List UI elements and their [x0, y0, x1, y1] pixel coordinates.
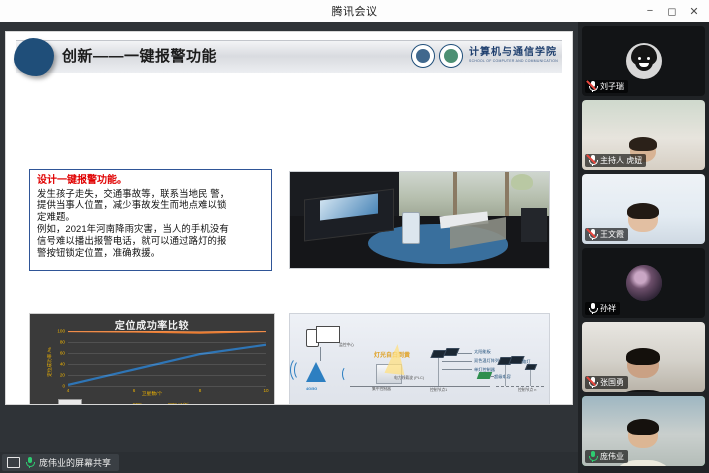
signal-wave-icon-outer	[290, 357, 308, 383]
chart-x-axis-label: 卫星数/个	[30, 390, 274, 397]
participant-name: 孙祥	[600, 303, 616, 314]
textbox-line-4: 例如，2021年河南降雨灾害，当人的手机没有	[37, 223, 265, 235]
chart-legend-item: GPS+WiFi	[151, 402, 189, 404]
positioning-success-chart: 定位成功率比较 定位成功率 /% 02040608010046810 卫星数/个…	[29, 313, 275, 404]
screen-share-label: 庞伟业的屏幕共享	[39, 456, 111, 469]
participant-tile[interactable]: 庞伟业	[582, 396, 705, 466]
diagram-label-node-1: 控制节点1	[430, 388, 447, 393]
participant-name: 庞伟业	[600, 451, 624, 462]
participant-name-bar: 刘子瑞	[585, 80, 628, 93]
base-station-icon	[306, 362, 326, 382]
chart-y-tick: 60	[60, 351, 65, 356]
textbox-heading: 设计一键报警功能。	[37, 175, 265, 188]
tencent-meeting-window: 腾讯会议 − ◻ ✕ 创新——一键报警功能 计算机与通信学院 SCHOOL OF…	[0, 0, 709, 473]
chart-legend-label: GPS+WiFi	[168, 402, 189, 404]
participant-tile[interactable]: 张国勇	[582, 322, 705, 392]
chart-plot-area: 02040608010046810	[68, 331, 266, 386]
diagram-label-concentrator: 集中控制器	[372, 387, 391, 392]
microphone-muted-icon[interactable]	[588, 229, 597, 240]
chart-gridline	[68, 375, 266, 376]
participant-name: 主持人 虎妞	[600, 155, 642, 166]
chart-gridline	[68, 353, 266, 354]
participant-tile[interactable]: 王文霞	[582, 174, 705, 244]
diagram-label-network: 4G/5G	[306, 387, 317, 391]
participant-name: 刘子瑞	[600, 81, 624, 92]
diagram-label-monitor-center: 监控中心	[339, 343, 354, 348]
school-name-en: SCHOOL OF COMPUTER AND COMMUNICATION	[469, 60, 558, 63]
diagram-label-supercap: 超级电容	[494, 374, 511, 380]
chart-legend: GPSGPS+WiFi	[30, 402, 274, 404]
chart-gridline	[68, 342, 266, 343]
chart-legend-swatch-line	[151, 404, 165, 405]
chart-legend-item: GPS	[116, 402, 142, 404]
smart-streetlight-diagram: 监控中心 4G/5G 集中控制器 电力线载波 (PLC) 灯光自白到黄	[289, 313, 550, 404]
participant-name-bar: 主持人 虎妞	[585, 154, 646, 167]
participant-name: 王文霞	[600, 229, 624, 240]
diagram-label-lamp: 路灯	[522, 359, 530, 365]
school-name-cn: 计算机与通信学院	[469, 48, 558, 58]
school-logos: 计算机与通信学院 SCHOOL OF COMPUTER AND COMMUNIC…	[411, 44, 558, 68]
diagram-label-plc: 电力线载波 (PLC)	[394, 376, 424, 381]
minimize-button[interactable]: −	[639, 0, 661, 22]
diagram-label-led-array: 双色温灯阵列	[474, 358, 499, 364]
microphone-icon[interactable]	[588, 451, 597, 462]
slide-decor-shape	[14, 38, 54, 76]
chart-gridline	[68, 331, 266, 332]
diagram-label-controller: 单灯控制器	[474, 367, 495, 373]
microphone-icon[interactable]	[588, 303, 597, 314]
close-button[interactable]: ✕	[683, 0, 705, 22]
textbox-line-5: 信号难以播出报警电话，就可以通过路灯的报	[37, 235, 265, 247]
screen-share-status-bar: 庞伟业的屏幕共享	[0, 452, 578, 473]
chart-y-tick: 80	[60, 340, 65, 345]
chart-y-tick: 20	[60, 373, 65, 378]
screen-share-icon	[7, 457, 20, 468]
chart-legend-swatch-line	[116, 404, 130, 405]
chart-gridline	[68, 364, 266, 365]
participant-name-bar: 孙祥	[585, 302, 620, 315]
textbox-line-1: 发生孩子走失，交通事故等，联系当地民 警，	[37, 188, 265, 200]
chart-y-tick: 0	[62, 384, 65, 389]
window-controls: − ◻ ✕	[639, 0, 705, 22]
textbox-line-3: 定难题。	[37, 211, 265, 223]
window-title: 腾讯会议	[332, 3, 378, 19]
diagram-label-solar: 太阳能板	[474, 349, 491, 355]
microphone-muted-icon[interactable]	[588, 155, 597, 166]
solar-panel-icon-2	[443, 348, 459, 356]
participant-name-bar: 张国勇	[585, 376, 628, 389]
lamp-beam	[384, 343, 407, 375]
textbox-line-2: 提供当事人位置，减少事故发生而地点难以锁	[37, 199, 265, 211]
participant-name-bar: 庞伟业	[585, 450, 628, 463]
chart-gridline	[68, 386, 266, 387]
participant-tile[interactable]: 刘子瑞	[582, 26, 705, 96]
chart-legend-label: GPS	[133, 402, 142, 404]
chart-y-axis-label: 定位成功率 /%	[47, 347, 53, 377]
shared-screen-stage[interactable]: 创新——一键报警功能 计算机与通信学院 SCHOOL OF COMPUTER A…	[0, 22, 578, 473]
maximize-button[interactable]: ◻	[661, 0, 683, 22]
chart-y-tick: 100	[57, 329, 65, 334]
participant-name: 张国勇	[600, 377, 624, 388]
participant-tile[interactable]: 孙祥	[582, 248, 705, 318]
chart-title: 定位成功率比较	[30, 317, 274, 332]
signal-wave-icon-2	[342, 366, 352, 382]
slide-textbox: 设计一键报警功能。 发生孩子走失，交通事故等，联系当地民 警， 提供当事人位置，…	[29, 169, 272, 271]
microphone-muted-icon[interactable]	[588, 377, 597, 388]
textbox-line-6: 警按钮锁定位置，准确救援。	[37, 247, 265, 259]
school-emblem-icon	[439, 44, 463, 68]
chart-y-tick: 40	[60, 362, 65, 367]
participant-video-strip[interactable]: 刘子瑞主持人 虎妞王文霞孙祥张国勇庞伟业	[578, 22, 709, 473]
avatar	[626, 265, 662, 301]
slide-title: 创新——一键报警功能	[62, 45, 217, 66]
diagram-label-node-n: 控制节点 n	[518, 388, 536, 393]
monitor-icon	[316, 326, 340, 343]
screen-share-indicator[interactable]: 庞伟业的屏幕共享	[2, 454, 119, 471]
avatar	[626, 43, 662, 79]
participant-name-bar: 王文霞	[585, 228, 628, 241]
participant-tile[interactable]: 主持人 虎妞	[582, 100, 705, 170]
microphone-muted-icon[interactable]	[588, 81, 597, 92]
prototype-photo	[289, 171, 550, 269]
chart-series-svg	[68, 331, 266, 386]
presentation-slide: 创新——一键报警功能 计算机与通信学院 SCHOOL OF COMPUTER A…	[6, 32, 572, 404]
title-bar: 腾讯会议 − ◻ ✕	[0, 0, 709, 23]
microphone-active-icon	[25, 457, 34, 468]
university-seal-icon	[411, 44, 435, 68]
